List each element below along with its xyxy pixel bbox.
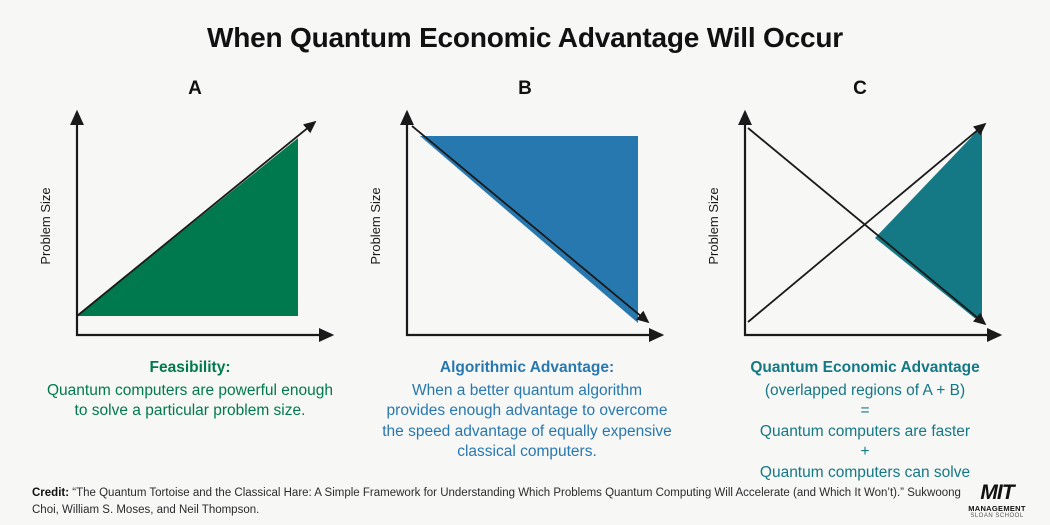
chart-panel-c: C Problem Size Year bbox=[685, 78, 1035, 348]
chart-a-y-axis-label: Problem Size bbox=[38, 187, 53, 264]
chart-panel-a: A Problem Size Year bbox=[20, 78, 370, 348]
mit-logo-sloan-school: SLOAN SCHOOL bbox=[958, 513, 1036, 520]
mit-sloan-logo: MIT MANAGEMENT SLOAN SCHOOL bbox=[958, 482, 1036, 521]
caption-c-line: = bbox=[690, 401, 1040, 422]
credit-text: Credit: “The Quantum Tortoise and the Cl… bbox=[32, 485, 962, 518]
caption-c-line: (overlapped regions of A + B) bbox=[690, 381, 1040, 402]
caption-b-line: When a better quantum algorithm bbox=[352, 381, 702, 402]
caption-b-line: the speed advantage of equally expensive bbox=[352, 422, 702, 443]
caption-a: Feasibility: Quantum computers are power… bbox=[15, 358, 365, 422]
page-title: When Quantum Economic Advantage Will Occ… bbox=[0, 22, 1050, 54]
caption-b: Algorithmic Advantage: When a better qua… bbox=[352, 358, 702, 463]
caption-b-line: provides enough advantage to overcome bbox=[352, 401, 702, 422]
caption-c-line: + bbox=[690, 442, 1040, 463]
caption-c-heading: Quantum Economic Advantage bbox=[690, 358, 1040, 379]
chart-c-y-axis-label: Problem Size bbox=[706, 187, 721, 264]
caption-c-line: Quantum computers are faster bbox=[690, 422, 1040, 443]
chart-c-overlap-region bbox=[875, 126, 982, 324]
chart-c-svg: Problem Size Year bbox=[685, 96, 1035, 346]
caption-a-heading: Feasibility: bbox=[15, 358, 365, 379]
caption-a-line: Quantum computers are powerful enough bbox=[15, 381, 365, 402]
caption-c: Quantum Economic Advantage (overlapped r… bbox=[690, 358, 1040, 484]
chart-panel-b: B Problem Size Year bbox=[350, 78, 700, 348]
chart-b-y-axis-label: Problem Size bbox=[368, 187, 383, 264]
infographic-root: When Quantum Economic Advantage Will Occ… bbox=[0, 0, 1050, 525]
chart-b-svg: Problem Size Year bbox=[350, 96, 700, 346]
mit-logo-management: MANAGEMENT bbox=[958, 504, 1036, 513]
mit-logo-wordmark: MIT bbox=[958, 482, 1036, 503]
credit-line-1: “The Quantum Tortoise and the Classical … bbox=[72, 487, 904, 499]
caption-b-line: classical computers. bbox=[352, 442, 702, 463]
credit-label: Credit: bbox=[32, 487, 69, 499]
caption-a-line: to solve a particular problem size. bbox=[15, 401, 365, 422]
caption-b-heading: Algorithmic Advantage: bbox=[352, 358, 702, 379]
chart-a-svg: Problem Size Year bbox=[20, 96, 370, 346]
chart-b-shaded-region bbox=[420, 136, 638, 323]
